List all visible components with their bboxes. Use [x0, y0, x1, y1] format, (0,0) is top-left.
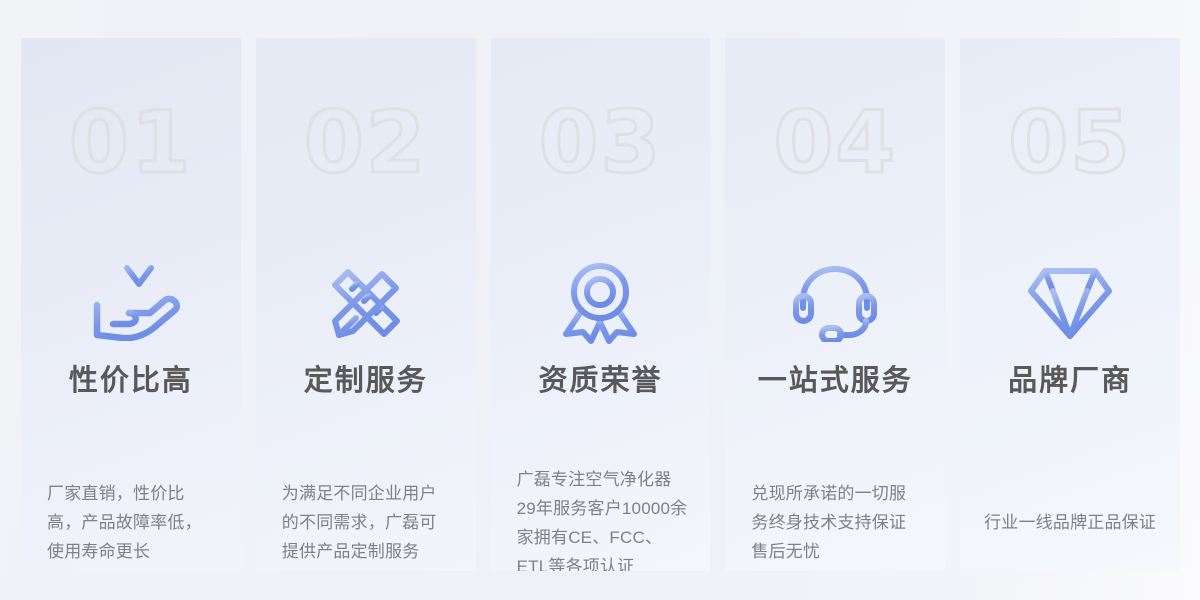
feature-card-02[interactable]: 02 — [256, 38, 476, 571]
card-number-badge: 04 — [725, 100, 945, 186]
feature-card-03[interactable]: 03 — [491, 38, 711, 571]
card-title: 性价比高 — [21, 363, 241, 399]
hand-holding-yen-icon — [21, 260, 241, 346]
card-number-badge: 03 — [491, 100, 711, 186]
card-title: 品牌厂商 — [960, 363, 1180, 399]
pencil-ruler-icon — [256, 260, 476, 346]
card-description: 广磊专注空气净化器29年服务客户10000余家拥有CE、FCC、ETL等各项认证 — [517, 465, 689, 571]
card-description: 为满足不同企业用户的不同需求，广磊可提供产品定制服务 — [282, 479, 454, 566]
card-description: 厂家直销，性价比高，产品故障率低，使用寿命更长 — [47, 479, 219, 566]
headset-icon — [725, 260, 945, 346]
card-title: 一站式服务 — [725, 363, 945, 399]
feature-card-05[interactable]: 05 — [960, 38, 1180, 571]
features-board: 01 — [0, 0, 1200, 600]
card-description: 行业一线品牌正品保证 — [972, 508, 1168, 537]
feature-card-01[interactable]: 01 — [21, 38, 241, 571]
card-number-badge: 05 — [960, 100, 1180, 186]
card-title: 定制服务 — [256, 363, 476, 399]
card-number-badge: 02 — [256, 100, 476, 186]
card-description: 兑现所承诺的一切服务终身技术支持保证售后无忧 — [751, 479, 923, 566]
award-ribbon-icon — [491, 260, 711, 346]
card-number-badge: 01 — [21, 100, 241, 186]
card-title: 资质荣誉 — [491, 363, 711, 399]
feature-card-04[interactable]: 04 — [725, 38, 945, 571]
diamond-icon — [960, 260, 1180, 346]
